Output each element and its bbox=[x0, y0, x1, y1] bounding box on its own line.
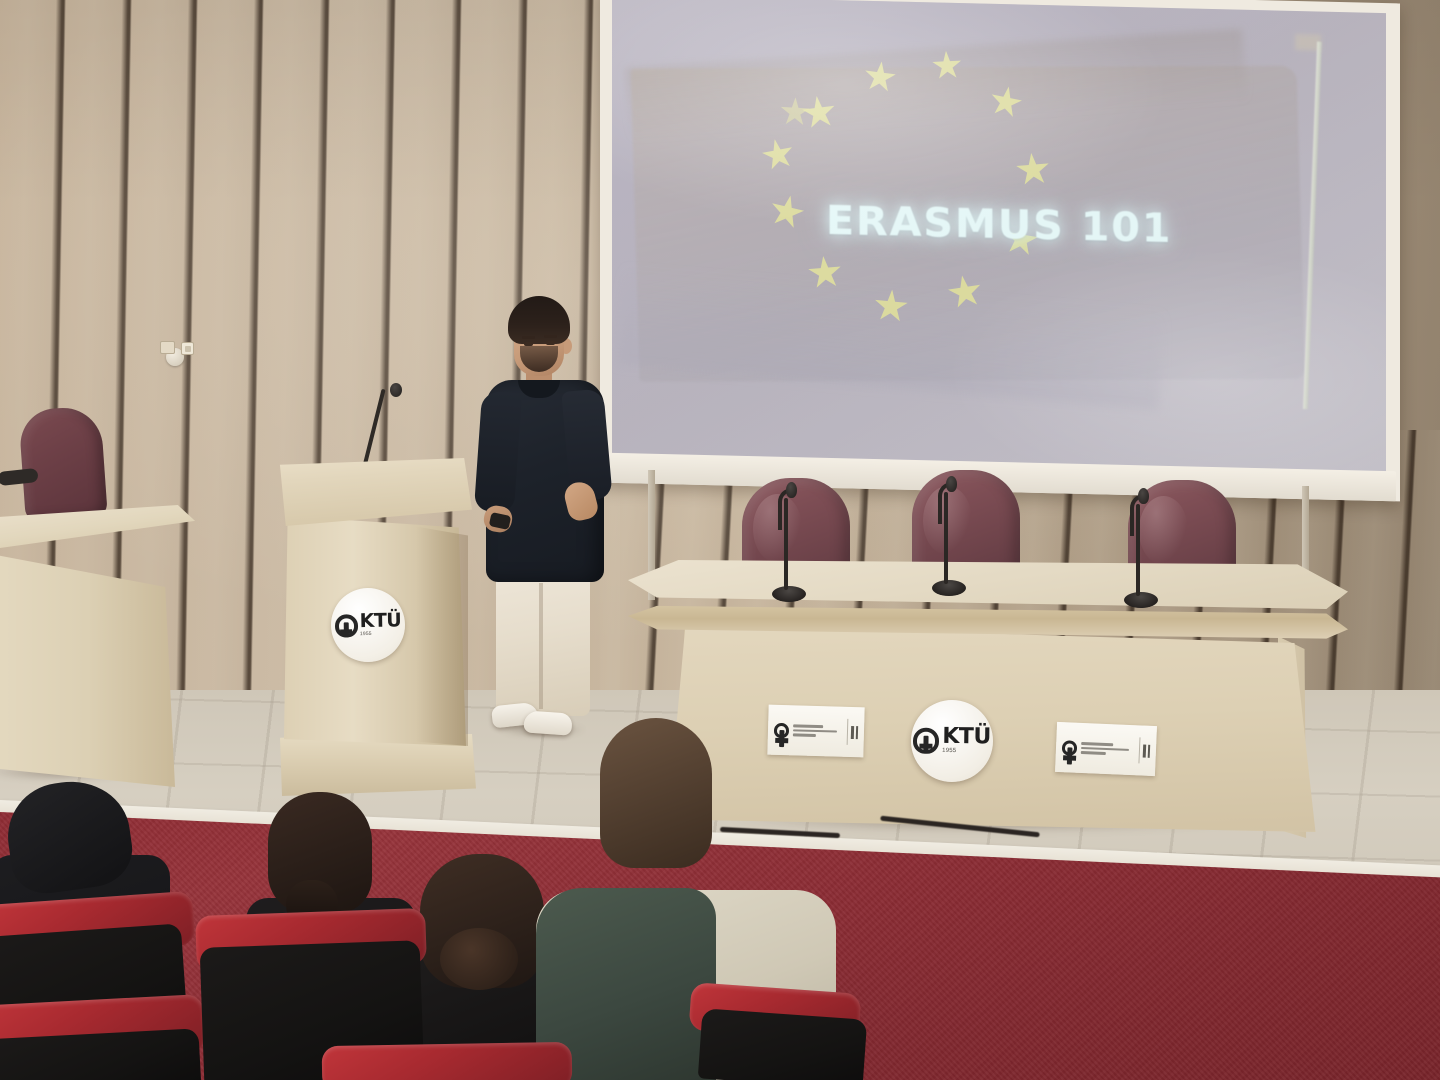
placard-text-lines bbox=[793, 725, 843, 738]
screen-surface: ERASMUS 101 bbox=[612, 0, 1386, 473]
table-microphone bbox=[1120, 488, 1160, 608]
podium-side-shading bbox=[416, 522, 468, 746]
table-microphone bbox=[768, 482, 808, 602]
ktu-arch-icon bbox=[1062, 740, 1078, 756]
projection-screen: ERASMUS 101 bbox=[600, 0, 1400, 492]
ktu-logo-year: 1955 bbox=[942, 749, 990, 755]
side-desk-front bbox=[0, 537, 175, 787]
ktu-arch-icon bbox=[334, 614, 357, 637]
microphone-capsule-icon bbox=[1138, 488, 1149, 504]
presenter-eyebrow-left bbox=[522, 336, 535, 339]
light-switch-icon[interactable] bbox=[160, 341, 175, 354]
presenter-sleeve-left bbox=[474, 391, 522, 513]
side-desk-top bbox=[0, 505, 195, 549]
presenter-hair bbox=[508, 296, 570, 344]
presenter-shoe-right bbox=[523, 710, 572, 735]
presenter bbox=[462, 296, 622, 746]
ktu-logo-name: KTÜ bbox=[359, 613, 401, 631]
ktu-logo-year: 1955 bbox=[360, 632, 402, 637]
auditorium-seat-rim[interactable] bbox=[322, 1042, 573, 1080]
audience-member-hair-bun bbox=[440, 928, 518, 990]
microphone-capsule-icon bbox=[786, 482, 797, 498]
microphone-capsule-icon bbox=[946, 476, 957, 492]
table-placard-left bbox=[767, 705, 864, 758]
auditorium-seat[interactable] bbox=[698, 1008, 867, 1080]
podium-lectern-top bbox=[276, 458, 472, 526]
panel-table bbox=[628, 560, 1348, 860]
auditorium-scene: ERASMUS 101 bbox=[0, 0, 1440, 1080]
ktu-arch-icon bbox=[774, 722, 789, 737]
podium: KTÜ 1955 bbox=[276, 458, 488, 808]
table-microphone bbox=[928, 476, 968, 596]
ktu-logo-table: KTÜ 1955 bbox=[911, 700, 994, 783]
podium-microphone-capsule-icon bbox=[390, 383, 402, 397]
power-outlet-icon[interactable] bbox=[181, 342, 194, 355]
placard-text-lines bbox=[1081, 742, 1135, 756]
ktu-arch-icon bbox=[913, 728, 939, 754]
side-desk bbox=[0, 505, 200, 805]
presenter-eye-right bbox=[546, 341, 555, 345]
presenter-eyebrow-right bbox=[544, 335, 557, 338]
placard-bars-icon bbox=[1138, 738, 1150, 764]
ktu-logo-name: KTÜ bbox=[942, 727, 991, 747]
ktu-logo-text: KTÜ 1955 bbox=[359, 613, 401, 637]
microphone-base bbox=[1124, 592, 1158, 608]
audience-member-head bbox=[600, 718, 712, 868]
placard-bars-icon bbox=[847, 719, 859, 744]
ktu-logo-text: KTÜ 1955 bbox=[942, 727, 991, 755]
microphone-base bbox=[932, 580, 966, 596]
microphone-base bbox=[772, 586, 806, 602]
table-placard-right bbox=[1055, 722, 1157, 776]
